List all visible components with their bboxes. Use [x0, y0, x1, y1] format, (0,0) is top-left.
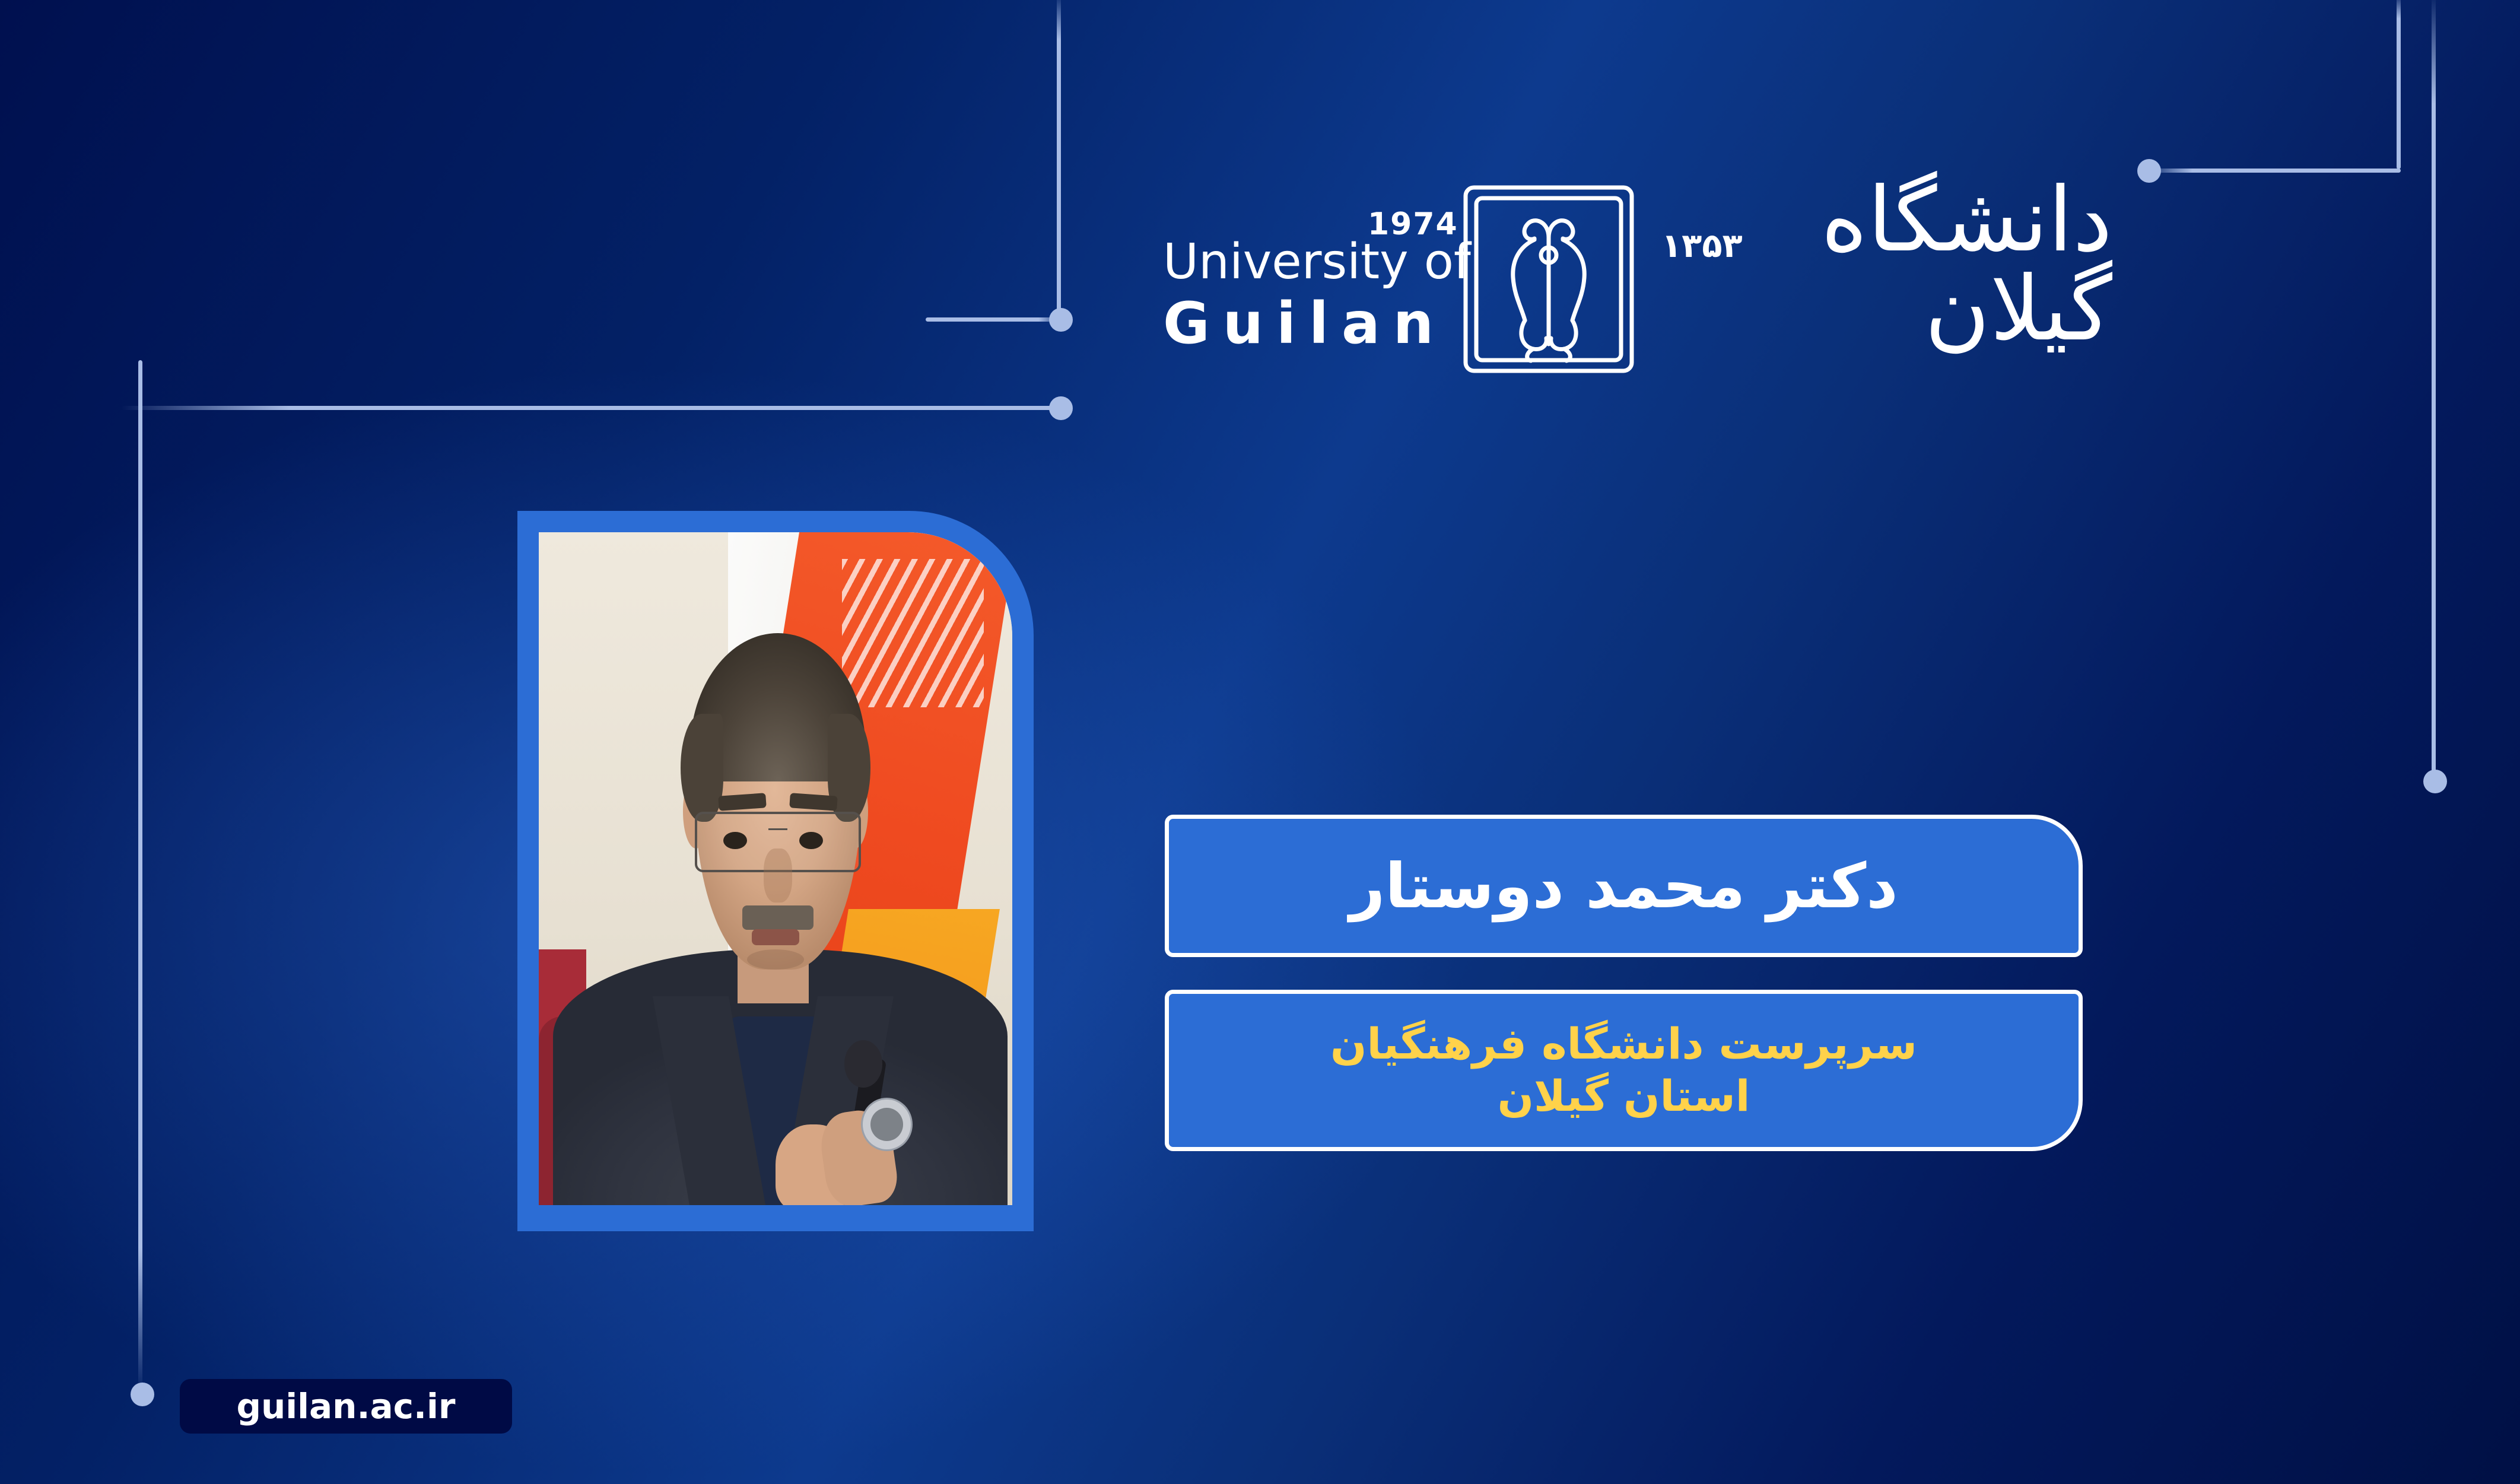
deco-vertical-line-right-short: [2397, 0, 2401, 169]
person-name: دکتر محمد دوستار: [1349, 850, 1898, 922]
logo-line-guilan: Guilan: [1163, 295, 1471, 352]
logo-persian-wordmark: دانشگاه گیلان: [1821, 169, 2112, 361]
deco-dot-bottom-left: [131, 1383, 154, 1406]
guilan-university-emblem-icon: [1460, 183, 1638, 376]
portrait-photo: [539, 532, 1012, 1205]
deco-dot-middle: [1049, 396, 1073, 420]
logo-english-text: University of Guilan: [1163, 238, 1471, 352]
person-title-line-1: سرپرست دانشگاه فرهنگیان: [1330, 1018, 1917, 1070]
person-title-card: سرپرست دانشگاه فرهنگیان استان گیلان: [1165, 990, 2083, 1151]
university-logo: University of Guilan 1974 ۱۳۵۳: [1163, 196, 2124, 386]
poster-canvas: University of Guilan 1974 ۱۳۵۳: [0, 0, 2520, 1484]
deco-vertical-line-right-long: [2432, 0, 2436, 777]
deco-horizontal-line-upper: [926, 317, 1063, 322]
logo-persian-text: دانشگاه گیلان: [1685, 176, 2112, 371]
person-name-card: دکتر محمد دوستار: [1165, 815, 2083, 957]
deco-dot-upper-right: [1049, 308, 1073, 332]
deco-horizontal-line-right: [2147, 169, 2401, 173]
portrait-frame: [517, 511, 1034, 1231]
person-title-line-2: استان گیلان: [1498, 1070, 1750, 1123]
logo-year-gregorian: 1974: [1368, 206, 1458, 242]
deco-vertical-line-top-center: [1057, 0, 1061, 322]
deco-dot-right-bottom: [2423, 770, 2447, 793]
website-url: guilan.ac.ir: [236, 1386, 455, 1426]
deco-dot-right-elbow: [2137, 159, 2161, 183]
deco-horizontal-line-middle: [122, 406, 1062, 410]
website-badge[interactable]: guilan.ac.ir: [180, 1379, 512, 1434]
logo-line-university-of: University of: [1163, 238, 1471, 287]
deco-vertical-line-left-long: [138, 360, 142, 1393]
